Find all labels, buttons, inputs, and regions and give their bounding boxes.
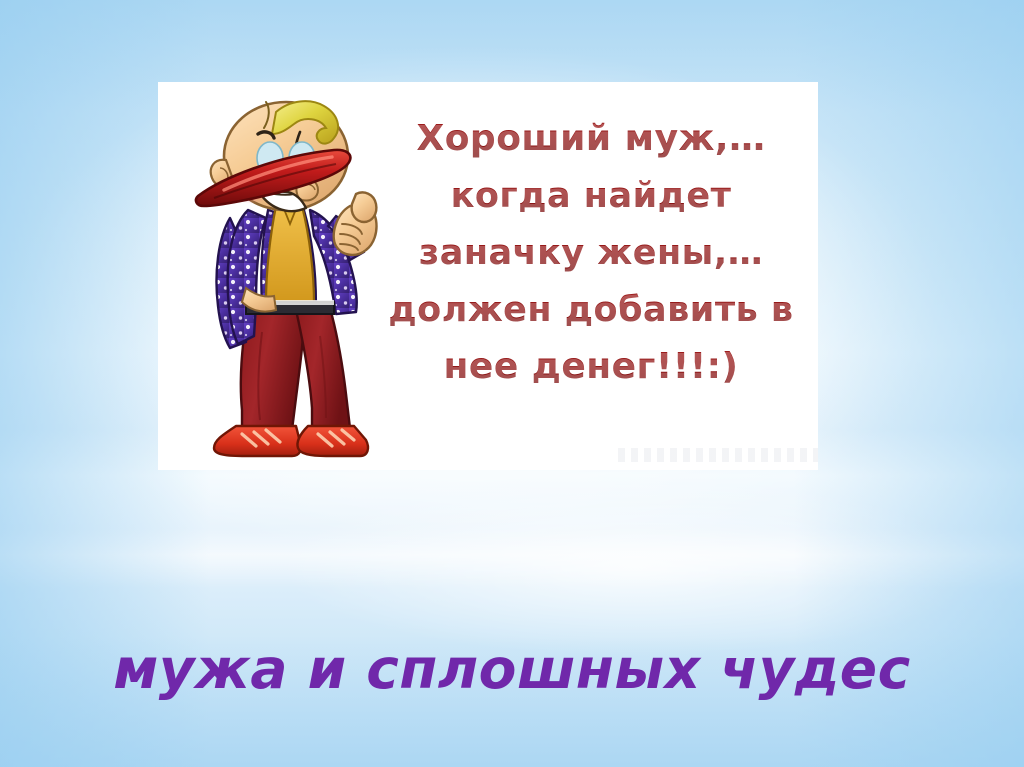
joke-line-3: заначку жены,… xyxy=(376,225,806,282)
slide-canvas: Хороший муж,… когда найдет заначку жены,… xyxy=(0,0,1024,767)
joke-line-4: должен добавить в xyxy=(376,282,806,339)
character-head xyxy=(196,101,350,211)
character-pants xyxy=(241,308,350,430)
card-watermark xyxy=(618,448,818,462)
joke-line-2: когда найдет xyxy=(376,168,806,225)
joke-line-1: Хороший муж,… xyxy=(376,110,806,168)
joke-image-card: Хороший муж,… когда найдет заначку жены,… xyxy=(158,82,818,470)
cartoon-man-illustration xyxy=(184,98,394,466)
joke-text-block: Хороший муж,… когда найдет заначку жены,… xyxy=(376,110,806,397)
slide-caption: мужа и сплошных чудес xyxy=(0,637,1024,701)
character-shoes xyxy=(214,426,368,456)
joke-line-5: нее денег!!!:) xyxy=(376,338,806,396)
